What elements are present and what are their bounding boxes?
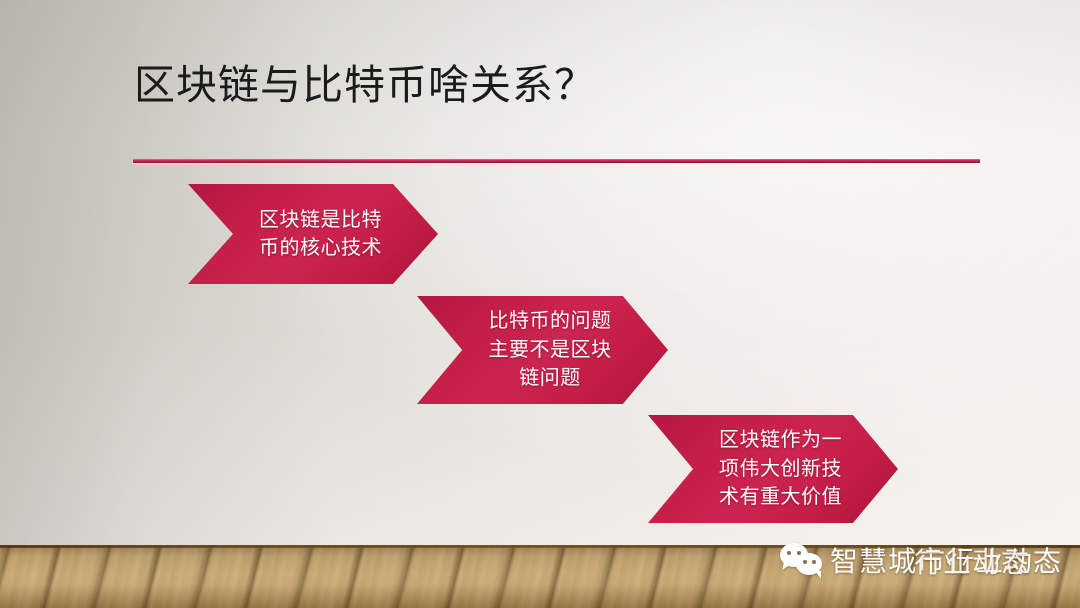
- watermark: 智慧城市行业动态 行业动态: [780, 538, 1062, 586]
- chevron-arrow-2-label: 比特币的问题 主要不是区块 链问题: [463, 307, 621, 392]
- wechat-icon-bubble-b: [796, 553, 822, 575]
- chevron-arrow-1-label: 区块链是比特 币的核心技术: [234, 206, 392, 263]
- wechat-icon-eye-2: [797, 551, 801, 555]
- title-divider-rule: [133, 159, 980, 163]
- wechat-icon-eye-1: [787, 551, 791, 555]
- wechat-icon: [780, 543, 824, 581]
- presentation-slide: 区块链与比特币啥关系？ 区块链是比特 币的核心技术 比特币的问题 主要不是区块 …: [0, 0, 1080, 608]
- wechat-icon-eye-3: [803, 560, 807, 564]
- wechat-icon-eye-4: [812, 560, 816, 564]
- chevron-arrow-3-label: 区块链作为一 项伟大创新技 术有重大价值: [694, 426, 852, 511]
- watermark-overlay-text: 行业动态: [914, 544, 1030, 582]
- page-title: 区块链与比特币啥关系？: [134, 60, 596, 111]
- watermark-text-group: 智慧城市行业动态 行业动态: [830, 543, 1062, 581]
